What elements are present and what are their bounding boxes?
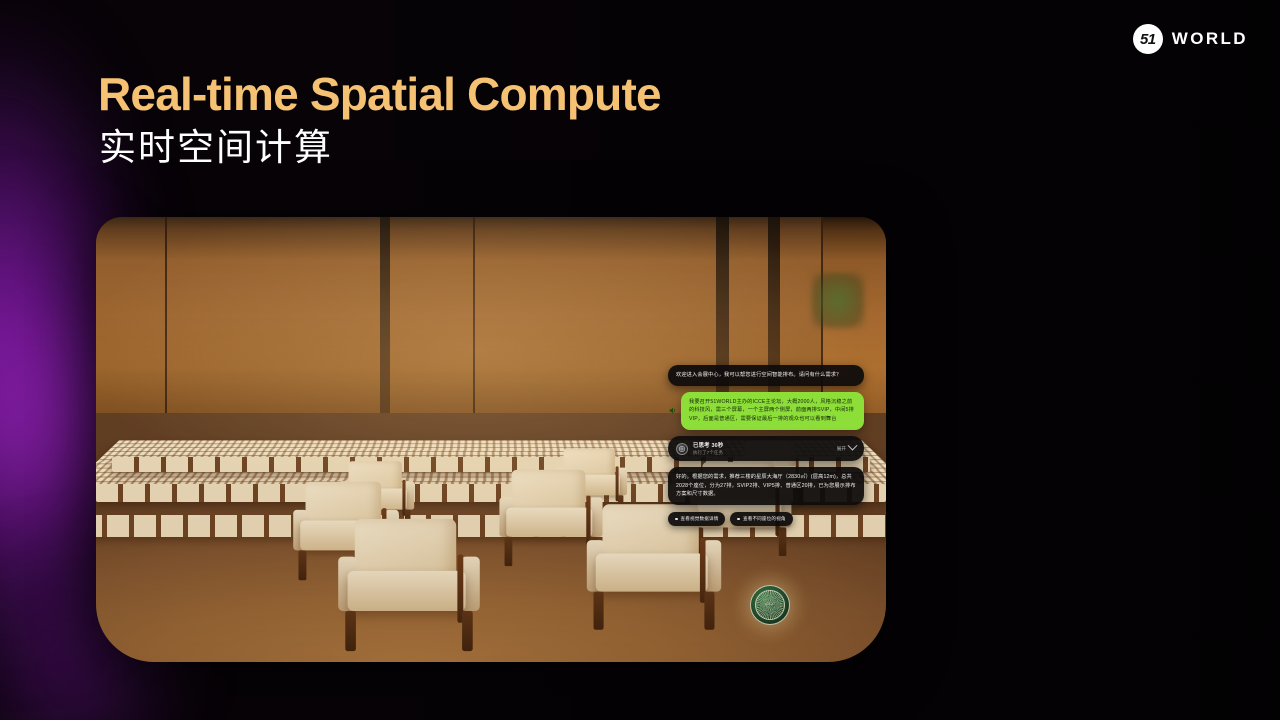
thinking-summary-bar[interactable]: 已思考 30秒 执行了7个任务 展开 (668, 436, 864, 461)
vip-armchair-7 (338, 518, 480, 650)
chair-seat (595, 553, 707, 591)
bullet-dot-icon (737, 518, 740, 521)
chat-message-welcome: 欢迎进入会展中心，我可以帮您进行空间智能排布。请问有什么需求？ (668, 365, 864, 386)
speaker-icon[interactable] (668, 406, 677, 415)
brand-logo: 51 WORLD (1133, 24, 1248, 54)
chair-leg-left (593, 591, 603, 629)
brand-name: WORLD (1172, 29, 1248, 49)
chair-leg-left (505, 537, 513, 566)
badge-label: ICCC (765, 603, 775, 607)
iccc-emblem-icon: ICCC (750, 585, 790, 625)
page-title-chinese: 实时空间计算 (99, 128, 333, 169)
chair-leg-left (345, 610, 356, 650)
chair-leg-right (778, 527, 786, 556)
chair-seat (347, 570, 465, 610)
chat-message-answer: 好的。根据您的需求，推荐三楼的星辰大海厅（2830㎡）(层高12m)，总共202… (668, 467, 864, 505)
chair-leg-right (462, 610, 473, 650)
thinking-expand-control[interactable]: 展开 (837, 445, 856, 452)
chat-message-user-row: 我要召开51WORLD主办的ICCE主论坛，大概2000人，风格沉稳之前的科技风… (668, 392, 864, 431)
thinking-action-label: 展开 (837, 446, 846, 452)
suggestion-chip-view-data[interactable]: 查看视觉数据详情 (668, 512, 725, 526)
chevron-down-icon[interactable] (848, 441, 858, 451)
51-world-logo-icon: 51 (1133, 24, 1163, 54)
chair-leg-right (704, 591, 714, 629)
wall-panel-2 (167, 217, 475, 431)
page-title-english: Real-time Spatial Compute (98, 70, 661, 118)
chair-leg-left (298, 550, 306, 580)
iccc-emblem-badge[interactable]: ICCC (744, 579, 796, 631)
chat-message-user: 我要召开51WORLD主办的ICCE主论坛，大概2000人，风格沉稳之前的科技风… (681, 392, 864, 431)
suggestion-chip-label: 查看视觉数据详情 (681, 516, 719, 522)
ai-avatar-icon (676, 443, 688, 455)
suggestion-chip-view-seat[interactable]: 查看不同座位的视角 (730, 512, 792, 526)
wall-seam-1 (380, 217, 389, 431)
chair-seat (506, 507, 592, 536)
wall-foliage (812, 273, 864, 329)
bullet-dot-icon (675, 518, 678, 521)
suggestion-chip-label: 查看不同座位的视角 (743, 516, 786, 522)
badge-inner-ring: ICCC (755, 590, 785, 620)
thinking-texts: 已思考 30秒 执行了7个任务 (693, 441, 832, 456)
wall-panel-1 (96, 217, 167, 431)
suggestion-chip-list: 查看视觉数据详情 查看不同座位的视角 (668, 512, 864, 526)
ai-chat-overlay: 欢迎进入会展中心，我可以帮您进行空间智能排布。请问有什么需求？ 我要召开51WO… (668, 365, 864, 526)
thinking-subtitle: 执行了7个任务 (693, 450, 832, 456)
slide-root: 51 WORLD Real-time Spatial Compute 实时空间计… (0, 0, 1280, 720)
thinking-title: 已思考 30秒 (693, 441, 832, 449)
